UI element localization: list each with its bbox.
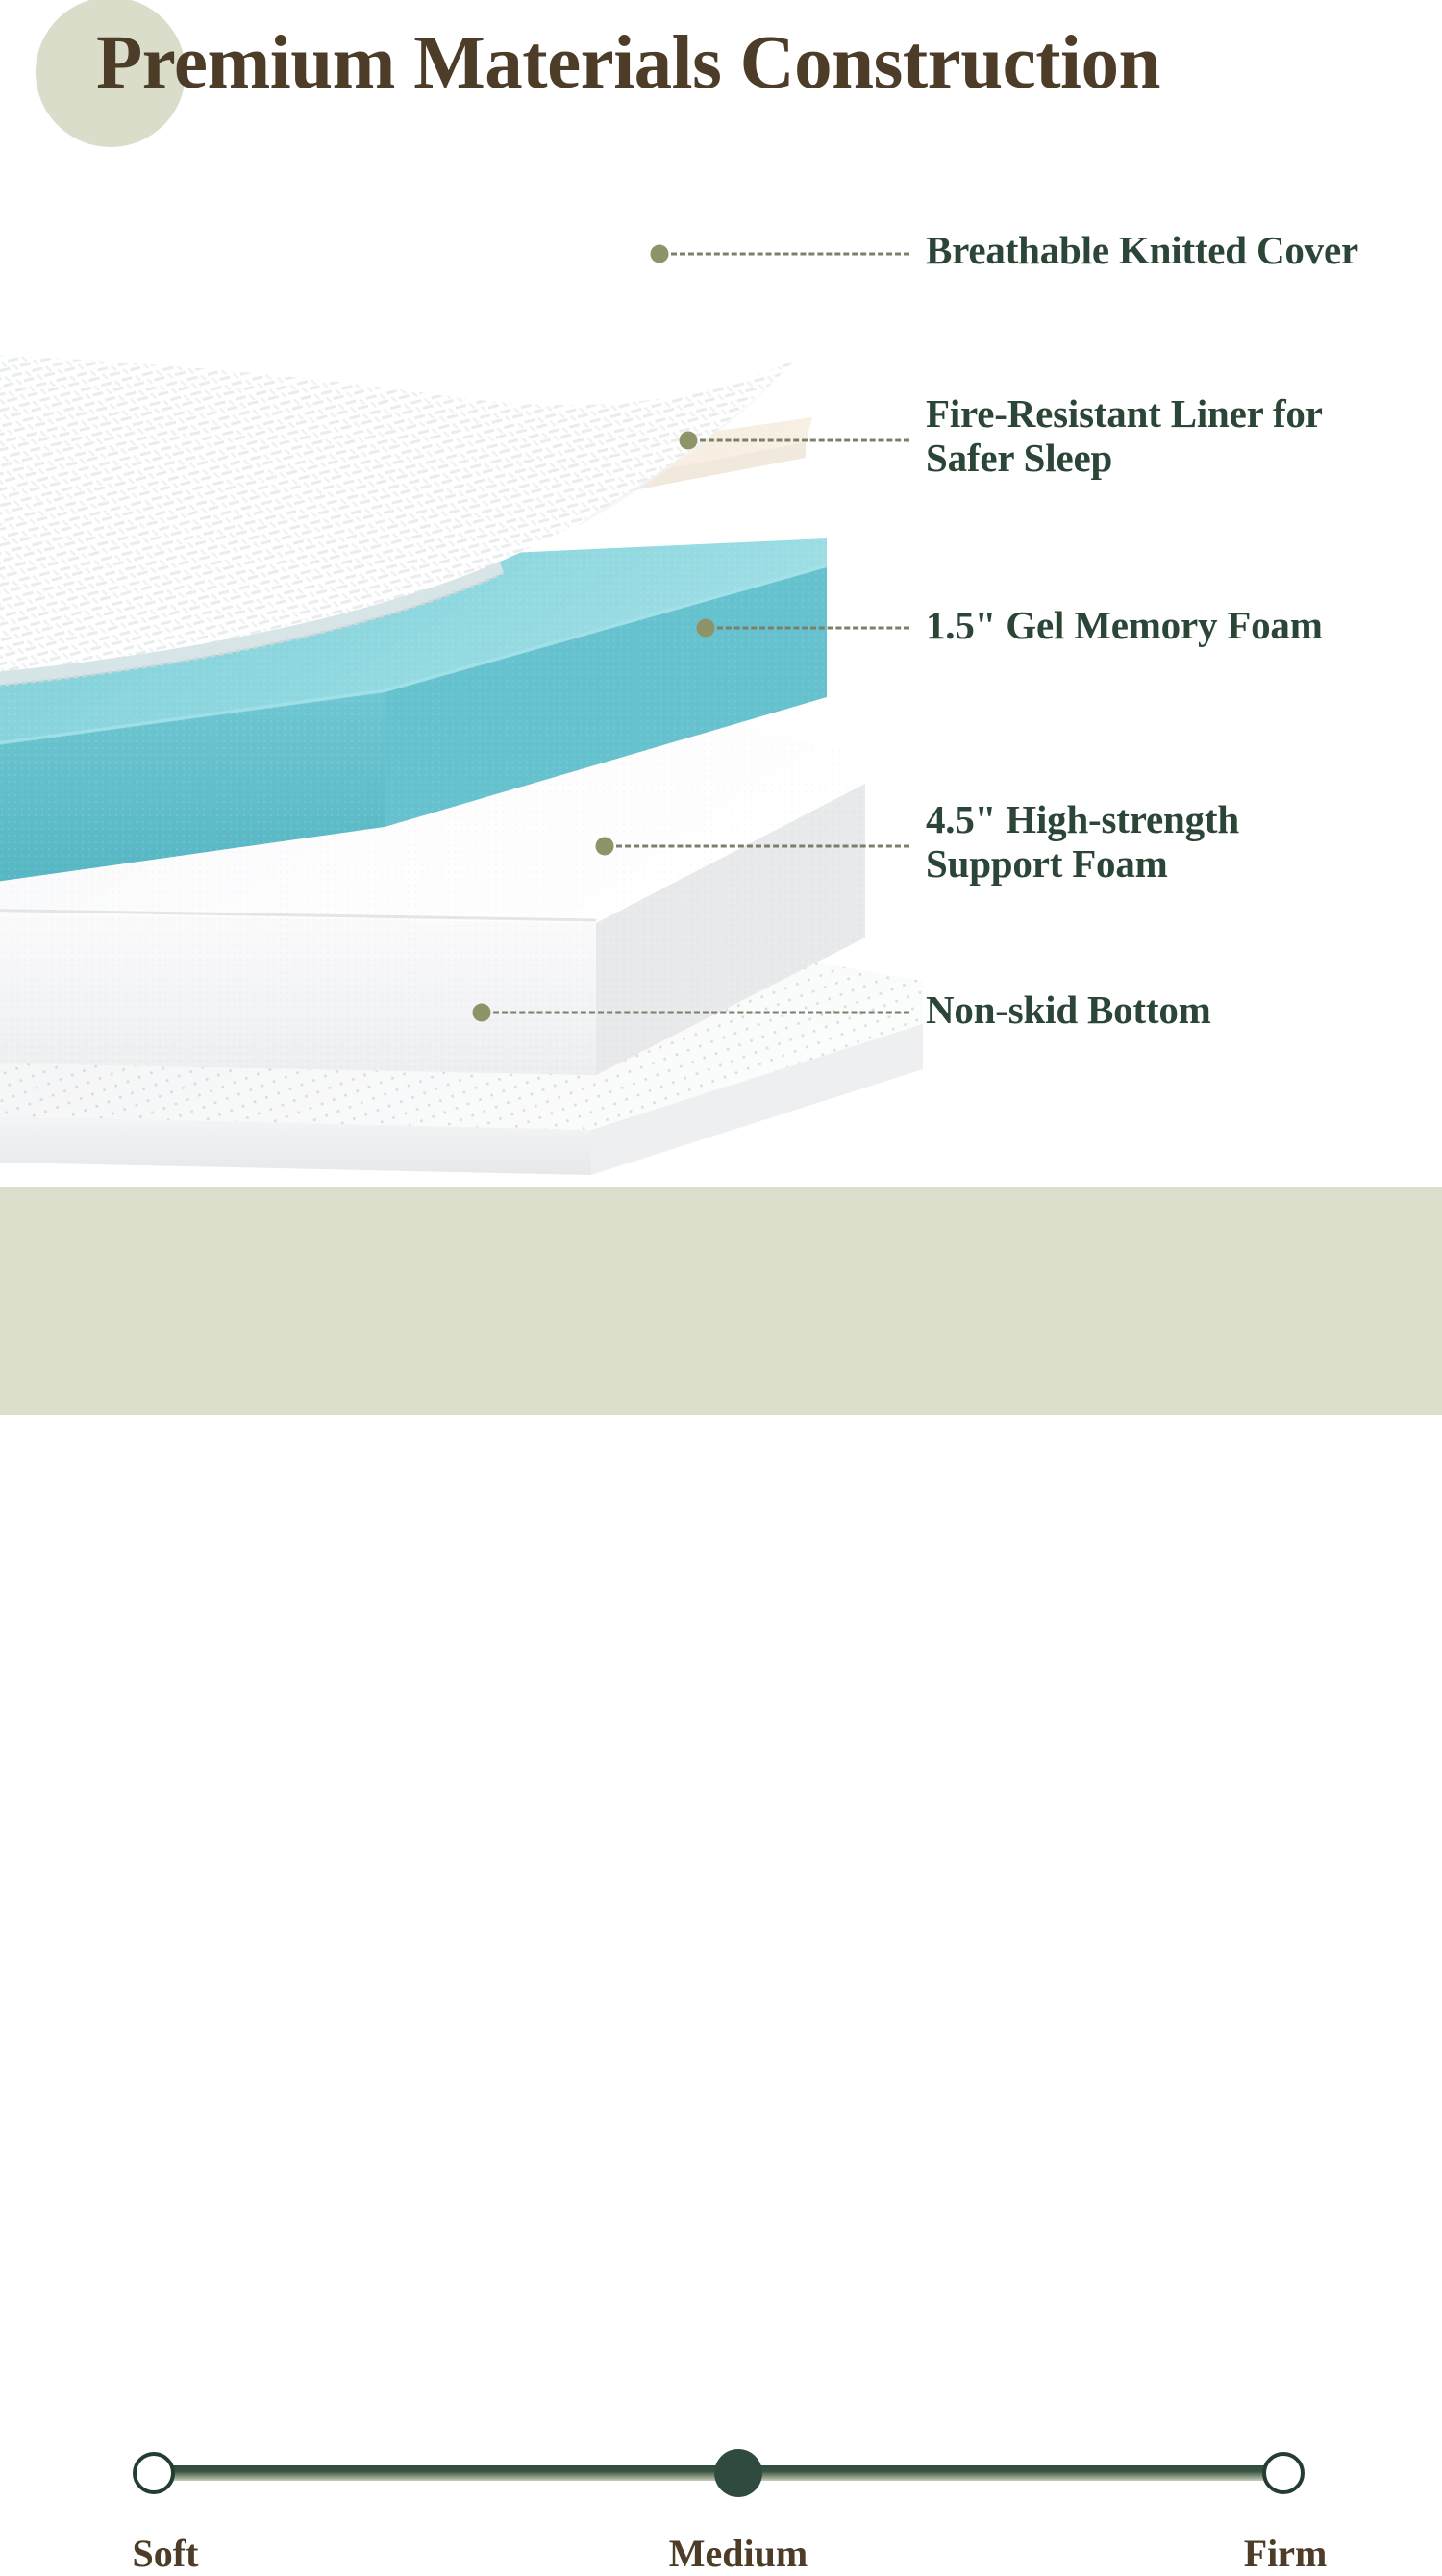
- callout-text-line: Fire-Resistant Liner for: [926, 392, 1323, 437]
- callout-text-line: Safer Sleep: [926, 437, 1323, 481]
- firmness-label-medium: Medium: [669, 2531, 808, 2576]
- callout-text-line: Breathable Knitted Cover: [926, 229, 1358, 273]
- infographic-canvas: Premium Materials Construction: [0, 0, 1442, 1415]
- callout-line-non-skid-bottom: [493, 1012, 909, 1014]
- callout-line-fire-resistant-liner: [700, 439, 909, 442]
- callout-text-line: 4.5" High-strength: [926, 798, 1239, 842]
- firmness-node-soft[interactable]: [133, 2452, 175, 2494]
- mattress-layer-illustration: [0, 154, 923, 1183]
- callout-text-line: Support Foam: [926, 842, 1239, 887]
- callout-dot-non-skid-bottom: [473, 1004, 491, 1022]
- callout-line-gel-memory-foam: [717, 627, 909, 630]
- page-title: Premium Materials Construction: [96, 25, 1423, 101]
- callout-text-line: Non-skid Bottom: [926, 988, 1211, 1033]
- callout-dot-support-foam: [596, 838, 614, 856]
- callout-label-fire-resistant-liner: Fire-Resistant Liner for Safer Sleep: [926, 392, 1323, 481]
- firmness-label-soft: Soft: [133, 2531, 199, 2576]
- firmness-panel: Soft Medium Firm: [0, 1187, 1442, 1415]
- header: Premium Materials Construction: [0, 0, 1442, 163]
- callout-label-non-skid-bottom: Non-skid Bottom: [926, 988, 1211, 1033]
- callout-line-breathable-knitted-cover: [671, 253, 909, 256]
- callout-label-breathable-knitted-cover: Breathable Knitted Cover: [926, 229, 1358, 273]
- callout-label-support-foam: 4.5" High-strength Support Foam: [926, 798, 1239, 887]
- callout-dot-fire-resistant-liner: [680, 432, 698, 450]
- firmness-label-firm: Firm: [1244, 2531, 1328, 2576]
- callout-dot-gel-memory-foam: [697, 619, 715, 638]
- callout-text-line: 1.5" Gel Memory Foam: [926, 604, 1323, 648]
- firmness-node-medium[interactable]: [714, 2449, 762, 2497]
- firmness-node-firm[interactable]: [1262, 2452, 1305, 2494]
- callout-label-gel-memory-foam: 1.5" Gel Memory Foam: [926, 604, 1323, 648]
- callout-dot-breathable-knitted-cover: [651, 245, 669, 263]
- callout-line-support-foam: [616, 845, 909, 848]
